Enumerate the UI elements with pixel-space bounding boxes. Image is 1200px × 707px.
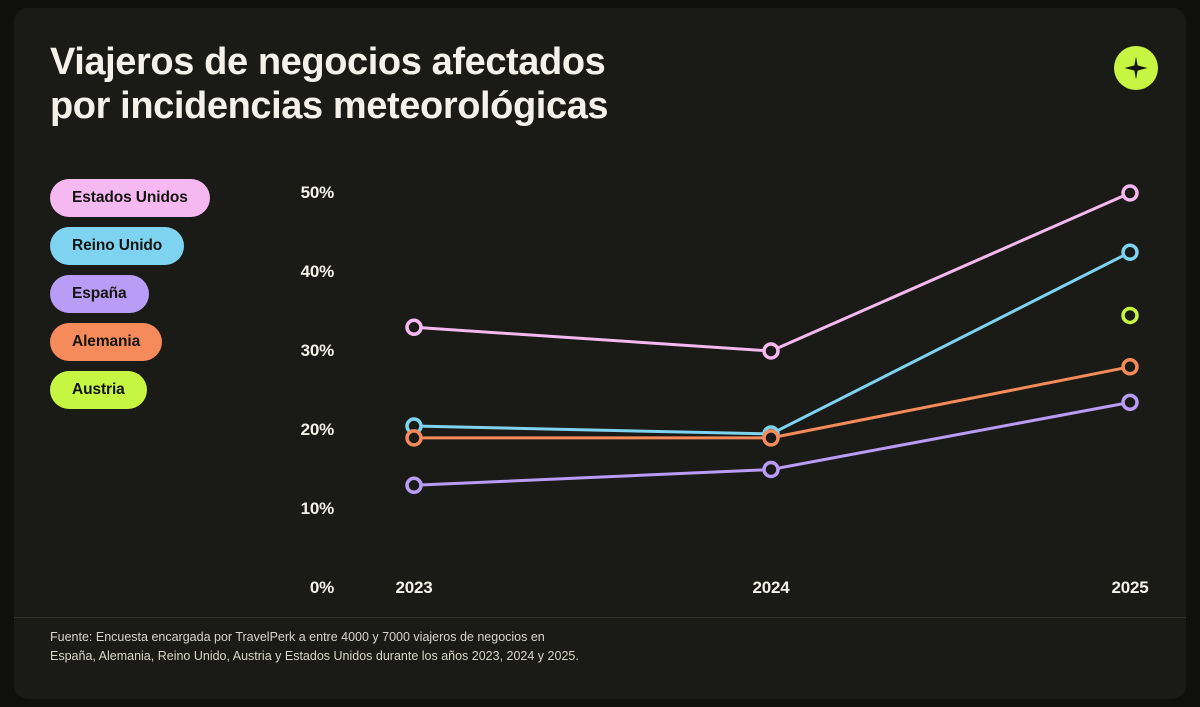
data-point-marker[interactable] xyxy=(407,431,421,445)
data-point-marker[interactable] xyxy=(1123,395,1137,409)
data-point-marker[interactable] xyxy=(407,478,421,492)
data-point-marker[interactable] xyxy=(1123,245,1137,259)
data-point-marker[interactable] xyxy=(764,463,778,477)
y-axis-tick: 0% xyxy=(264,578,334,598)
data-point-marker[interactable] xyxy=(407,320,421,334)
chart-canvas xyxy=(14,8,1186,699)
source-footnote: Fuente: Encuesta encargada por TravelPer… xyxy=(50,628,770,667)
data-point-marker[interactable] xyxy=(764,431,778,445)
x-axis-tick: 2025 xyxy=(1111,578,1148,598)
line-chart: 0%10%20%30%40%50%202320242025 xyxy=(14,8,1186,699)
y-axis-tick: 20% xyxy=(264,420,334,440)
x-axis-tick: 2024 xyxy=(752,578,789,598)
y-axis-tick: 30% xyxy=(264,341,334,361)
x-axis-tick: 2023 xyxy=(395,578,432,598)
infographic-card: Viajeros de negocios afectados por incid… xyxy=(14,8,1186,699)
series-line xyxy=(414,193,1130,351)
data-point-marker[interactable] xyxy=(1123,308,1137,322)
y-axis-tick: 40% xyxy=(264,262,334,282)
y-axis-tick: 50% xyxy=(264,183,334,203)
data-point-marker[interactable] xyxy=(764,344,778,358)
data-point-marker[interactable] xyxy=(1123,186,1137,200)
y-axis-tick: 10% xyxy=(264,499,334,519)
data-point-marker[interactable] xyxy=(1123,360,1137,374)
divider xyxy=(14,617,1186,618)
